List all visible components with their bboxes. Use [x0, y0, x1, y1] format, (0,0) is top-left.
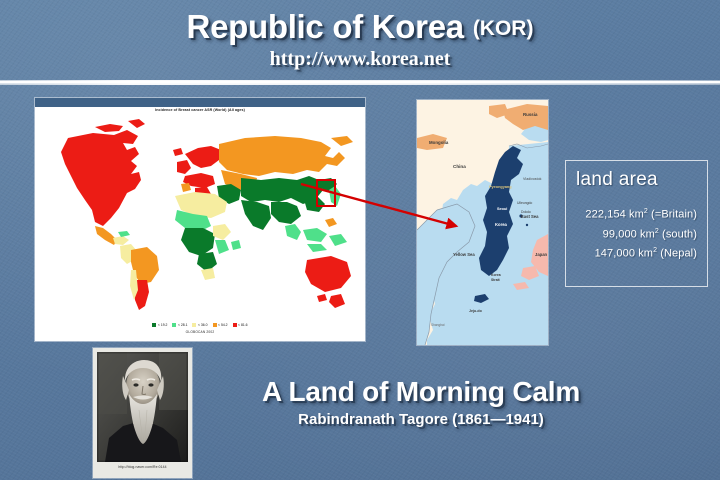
legend-label: < 54.2 [218, 323, 228, 327]
land-area-box: land area 222,154 km2 (=Britain) 99,000 … [565, 160, 708, 287]
korea-map-label-korea: Korea [495, 222, 508, 227]
land-area-row: 99,000 km2 (south) [572, 228, 701, 241]
korea-map-label-shanghai: Shanghai [431, 323, 445, 327]
land-area-value: 147,000 km [595, 248, 653, 260]
korea-map-label-dokdo: Dokdo [521, 210, 531, 214]
world-map-graphic [35, 114, 365, 321]
slide-header: Republic of Korea(KOR) http://www.korea.… [0, 0, 720, 84]
slide-headline: A Land of Morning Calm [196, 376, 646, 408]
land-area-note: (south) [659, 228, 697, 240]
world-map-source: GLOBOCAN 2002 [35, 330, 365, 334]
legend-label: < 81.6 [238, 323, 248, 327]
legend-item: < 36.0 [192, 323, 207, 327]
korea-map-label-jeju: Jeju-do [469, 309, 483, 313]
legend-label: < 36.0 [198, 323, 208, 327]
tagore-portrait-card: http://blog.naver.com/Re:0144 [93, 348, 192, 478]
land-area-value: 99,000 km [603, 228, 655, 240]
bottom-caption-block: A Land of Morning Calm Rabindranath Tago… [196, 376, 646, 428]
land-area-value: 222,154 km [585, 209, 643, 221]
korea-map-label-russia: Russia [523, 112, 538, 117]
korea-map-graphic: Russia Mongolia China Vladivostok East S… [417, 100, 548, 345]
land-area-note: (=Britain) [648, 209, 697, 221]
korea-map-label-ulleungdo: Ulleungdo [517, 201, 532, 205]
legend-item: < 81.6 [233, 323, 248, 327]
portrait-caption: http://blog.naver.com/Re:0144 [97, 465, 188, 469]
korea-map-label-korea-strait: Korea [491, 273, 501, 277]
legend-item: < 28.1 [172, 323, 187, 327]
land-area-row: 222,154 km2 (=Britain) [572, 208, 701, 221]
korea-map-label-china: China [453, 164, 466, 169]
world-map-titlebar [35, 98, 365, 107]
korea-map-label-vladivostok: Vladivostok [523, 177, 542, 181]
world-map-title: Incidence of Breast cancer ASR (World) (… [35, 107, 365, 113]
world-map-legend: < 19.2 < 28.1 < 36.0 < 54.2 < 81.6 [35, 323, 365, 327]
legend-item: < 54.2 [213, 323, 228, 327]
korea-map-label-mongolia: Mongolia [429, 140, 449, 145]
slide-attribution: Rabindranath Tagore (1861—1941) [196, 411, 646, 428]
land-area-heading: land area [576, 169, 701, 191]
land-area-row: 147,000 km2 (Nepal) [572, 247, 701, 260]
land-area-note: (Nepal) [657, 248, 697, 260]
page-title: Republic of Korea [187, 8, 464, 46]
korea-map-label-yellow-sea: Yellow Sea [453, 252, 475, 257]
korea-map-panel: Russia Mongolia China Vladivostok East S… [417, 100, 548, 345]
korea-map-label-korea-strait-2: Strait [491, 278, 501, 282]
legend-item: < 19.2 [152, 323, 167, 327]
legend-label: < 19.2 [158, 323, 168, 327]
legend-label: < 28.1 [178, 323, 188, 327]
korea-map-label-seoul: Seoul [497, 207, 507, 211]
korea-map-label-pyongyang: Pyeongyang [489, 185, 512, 189]
korea-map-label-east-sea: East Sea [521, 214, 539, 219]
website-url: http://www.korea.net [0, 48, 720, 71]
title-row: Republic of Korea(KOR) [0, 8, 720, 46]
world-map-panel: Incidence of Breast cancer ASR (World) (… [35, 98, 365, 341]
country-code: (KOR) [473, 17, 534, 41]
tagore-portrait-image [97, 352, 188, 462]
land-area-list: 222,154 km2 (=Britain) 99,000 km2 (south… [572, 208, 701, 260]
korea-map-label-japan: Japan [535, 252, 548, 257]
